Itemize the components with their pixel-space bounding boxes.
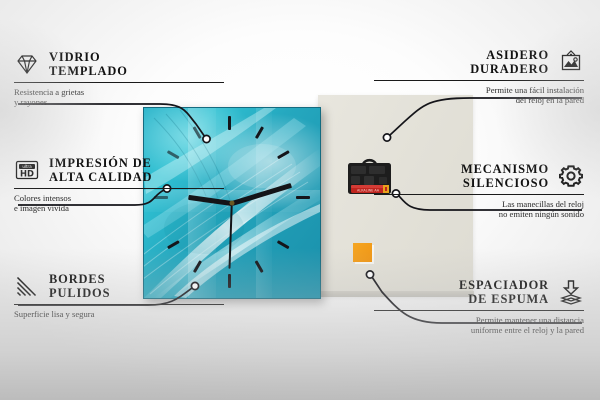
feature-title-line2: TEMPLADO	[49, 64, 128, 78]
feature-header: BORDES PULIDOS	[14, 272, 224, 301]
diamond-icon	[14, 51, 40, 77]
feature-title-line1: MECANISMO	[461, 162, 549, 176]
feature-subtitle-line1: Colores intensos	[14, 193, 224, 204]
infographic-canvas: ALKALINE AA	[0, 0, 600, 400]
feature-title-line1: BORDES	[49, 272, 110, 286]
feature-vidrio-templado: VIDRIO TEMPLADO Resistencia a grietas y …	[14, 50, 224, 108]
feature-subtitle-line2: uniforme entre el reloj y la pared	[374, 325, 584, 336]
feature-bordes-pulidos: BORDES PULIDOS Superficie lisa y segura	[14, 272, 224, 319]
feature-title-line2: DE ESPUMA	[459, 292, 549, 306]
feature-title-line1: ESPACIADOR	[459, 278, 549, 292]
svg-text:HD: HD	[20, 169, 34, 179]
feature-subtitle-line1: Permite mantener una distancia	[374, 315, 584, 326]
hour-tick	[228, 274, 231, 288]
feature-header: VIDRIO TEMPLADO	[14, 50, 224, 79]
feature-title-line2: DURADERO	[470, 62, 549, 76]
feature-espaciador-de-espuma: ESPACIADOR DE ESPUMA Permite mantener un…	[374, 278, 584, 336]
feature-subtitle: Permite mantener una distancia uniforme …	[374, 315, 584, 336]
ultra-hd-icon: ultra HD	[14, 157, 40, 183]
feature-header: ultra HD IMPRESIÓN DE ALTA CALIDAD	[14, 156, 224, 185]
polished-edges-icon	[14, 273, 40, 299]
feature-header: ASIDERO DURADERO	[374, 48, 584, 77]
hour-tick	[296, 196, 310, 199]
feature-asidero-duradero: ASIDERO DURADERO Permite una fácil insta…	[374, 48, 584, 106]
feature-subtitle: Superficie lisa y segura	[14, 309, 224, 320]
feature-impresion-alta-calidad: ultra HD IMPRESIÓN DE ALTA CALIDAD Color…	[14, 156, 224, 214]
feature-title-line1: VIDRIO	[49, 50, 128, 64]
clock-center-cap	[230, 201, 235, 206]
feature-subtitle: Colores intensos e imagen vívida	[14, 193, 224, 214]
feature-subtitle-line1: Resistencia a grietas	[14, 87, 224, 98]
feature-subtitle: Las manecillas del reloj no emiten ningú…	[374, 199, 584, 220]
feature-subtitle-line1: Permite una fácil instalación	[374, 85, 584, 96]
feature-header: ESPACIADOR DE ESPUMA	[374, 278, 584, 307]
feature-subtitle-line1: Superficie lisa y segura	[14, 309, 224, 320]
feature-mecanismo-silencioso: MECANISMO SILENCIOSO Las manecillas del …	[374, 162, 584, 220]
feature-title-line1: ASIDERO	[470, 48, 549, 62]
foam-spacer	[353, 243, 372, 262]
feature-subtitle-line1: Las manecillas del reloj	[374, 199, 584, 210]
feature-subtitle-line2: no emiten ningún sonido	[374, 209, 584, 220]
feature-divider	[14, 304, 224, 305]
feature-subtitle-line2: y rayones	[14, 97, 224, 108]
feature-title-line1: IMPRESIÓN DE	[49, 156, 152, 170]
feature-subtitle: Resistencia a grietas y rayones	[14, 87, 224, 108]
feature-divider	[374, 194, 584, 195]
feature-title-line2: ALTA CALIDAD	[49, 170, 152, 184]
feature-subtitle: Permite una fácil instalación del reloj …	[374, 85, 584, 106]
feature-subtitle-line2: del reloj en la pared	[374, 95, 584, 106]
gear-icon	[558, 163, 584, 189]
feature-title-line2: PULIDOS	[49, 286, 110, 300]
feature-divider	[14, 188, 224, 189]
feature-divider	[374, 80, 584, 81]
feature-header: MECANISMO SILENCIOSO	[374, 162, 584, 191]
feature-subtitle-line2: e imagen vívida	[14, 203, 224, 214]
feature-title-line2: SILENCIOSO	[461, 176, 549, 190]
picture-hanger-icon	[558, 49, 584, 75]
feature-divider	[374, 310, 584, 311]
feature-divider	[14, 82, 224, 83]
foam-spacer-arrow-icon	[558, 279, 584, 305]
hour-tick	[228, 116, 231, 130]
